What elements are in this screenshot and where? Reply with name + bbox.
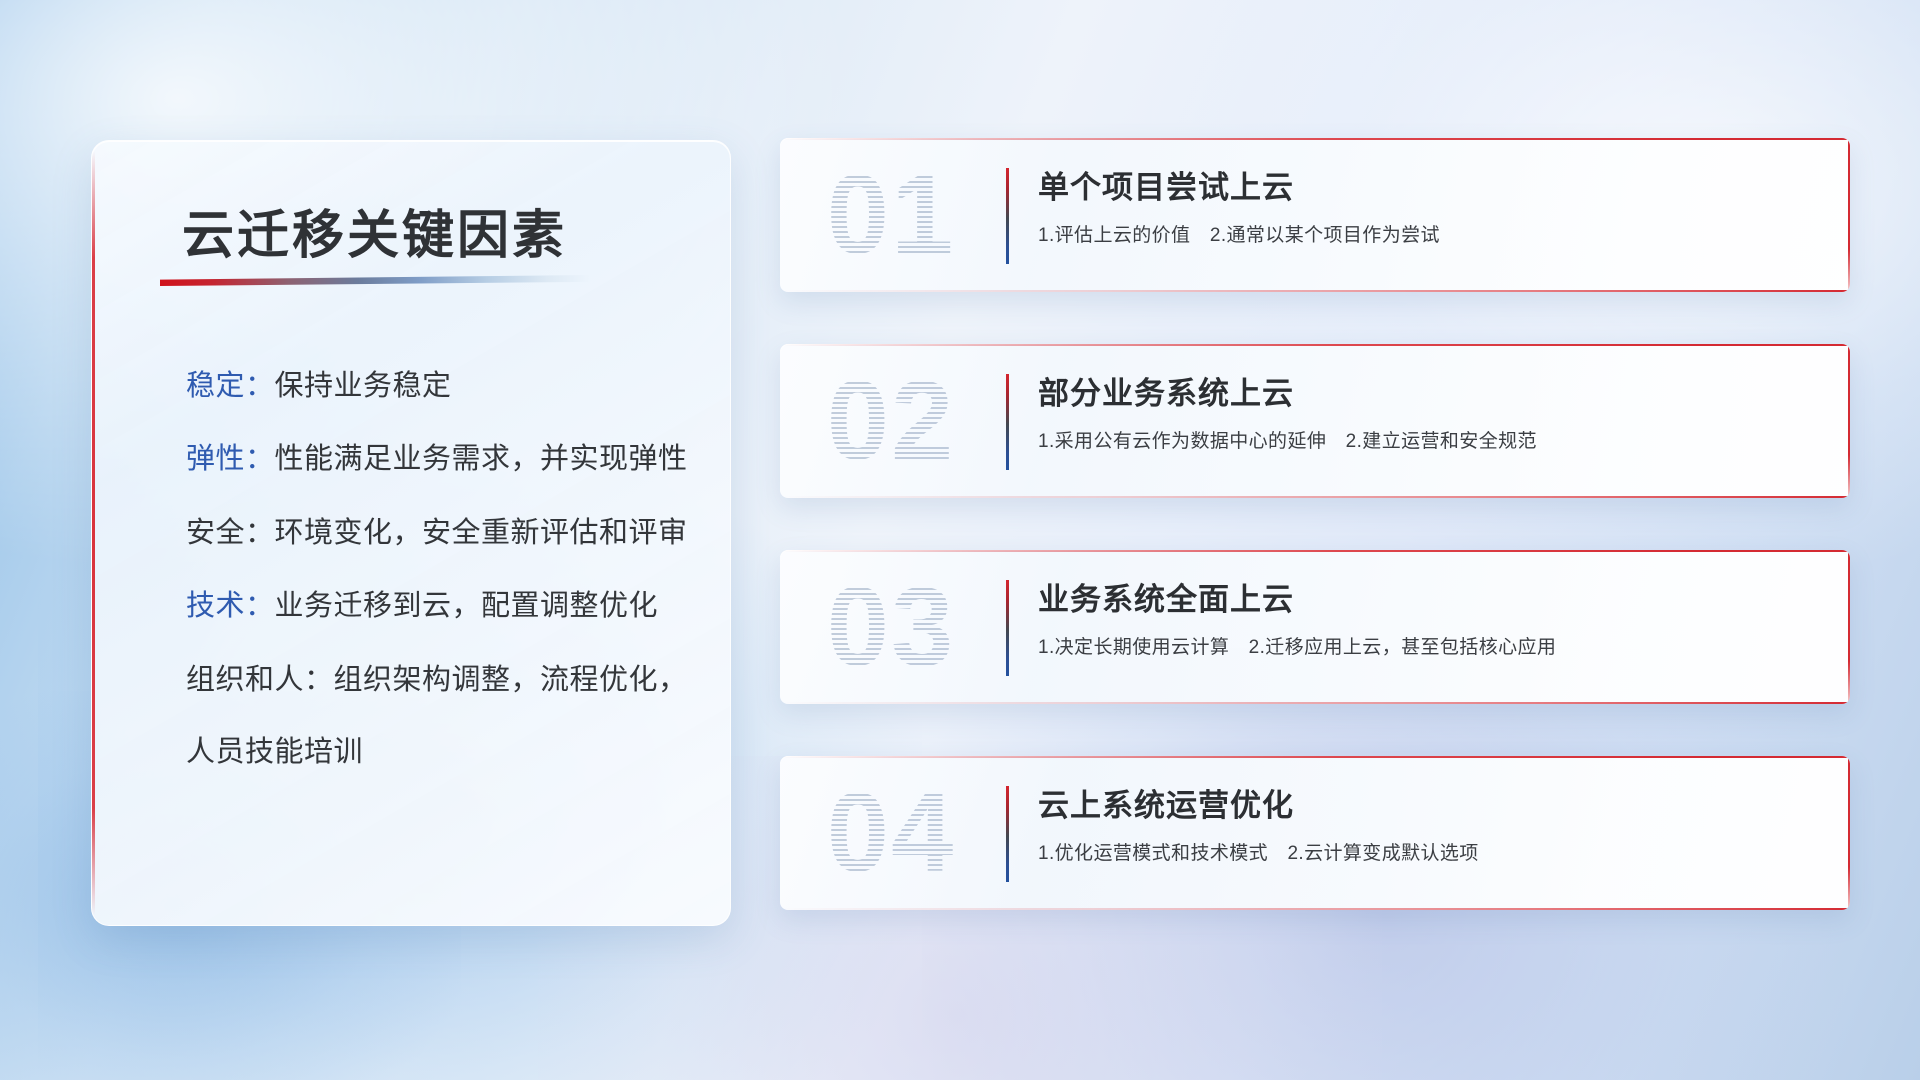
key-factor-label: 组织和人： bbox=[186, 664, 334, 696]
page-title: 云迁移关键因素 bbox=[182, 193, 567, 268]
stage-number-text: 01 bbox=[827, 146, 956, 284]
key-factor-row: 组织和人：组织架构调整，流程优化， bbox=[186, 665, 690, 695]
stage-title: 业务系统全面上云 bbox=[1038, 574, 1294, 619]
stage-subtitle: 1.决定长期使用云计算 2.迁移应用上云，甚至包括核心应用 bbox=[1038, 632, 1556, 659]
card-bottom-accent bbox=[780, 290, 1850, 292]
key-factors-list: 稳定：保持业务稳定弹性：性能满足业务需求，并实现弹性安全：环境变化，安全重新评估… bbox=[186, 371, 690, 811]
key-factor-value: 保持业务稳定 bbox=[275, 370, 452, 402]
key-factor-label: 安全： bbox=[186, 517, 275, 549]
stage-card[interactable]: 01单个项目尝试上云1.评估上云的价值 2.通常以某个项目作为尝试 bbox=[780, 138, 1850, 292]
stage-card[interactable]: 02部分业务系统上云1.采用公有云作为数据中心的延伸 2.建立运营和安全规范 bbox=[780, 344, 1850, 498]
stage-number-watermark: 03 bbox=[806, 558, 976, 696]
key-factor-row: 技术：业务迁移到云，配置调整优化 bbox=[186, 591, 690, 621]
stage-number-watermark: 02 bbox=[806, 352, 976, 490]
card-bottom-accent bbox=[780, 496, 1850, 498]
key-factor-value: 组织架构调整，流程优化， bbox=[334, 664, 688, 696]
card-divider-bar bbox=[1006, 374, 1009, 470]
stage-card[interactable]: 04云上系统运营优化1.优化运营模式和技术模式 2.云计算变成默认选项 bbox=[780, 756, 1850, 910]
stage-subtitle: 1.优化运营模式和技术模式 2.云计算变成默认选项 bbox=[1038, 838, 1479, 865]
key-factor-row: 稳定：保持业务稳定 bbox=[186, 371, 690, 401]
card-top-accent bbox=[780, 756, 1850, 758]
key-factors-panel: 云迁移关键因素 稳定：保持业务稳定弹性：性能满足业务需求，并实现弹性安全：环境变… bbox=[91, 140, 731, 926]
key-factor-value: 人员技能培训 bbox=[186, 736, 363, 768]
card-top-accent bbox=[780, 550, 1850, 552]
stage-title: 部分业务系统上云 bbox=[1038, 368, 1294, 413]
key-factor-value: 环境变化，安全重新评估和评审 bbox=[275, 517, 688, 549]
migration-stages-list: 01单个项目尝试上云1.评估上云的价值 2.通常以某个项目作为尝试02部分业务系… bbox=[780, 138, 1850, 962]
stage-number-text: 03 bbox=[827, 558, 956, 696]
key-factor-value: 业务迁移到云，配置调整优化 bbox=[275, 590, 659, 622]
card-top-accent bbox=[780, 344, 1850, 346]
card-right-accent bbox=[1848, 756, 1850, 910]
card-divider-bar bbox=[1006, 168, 1009, 264]
card-top-accent bbox=[780, 138, 1850, 140]
key-factor-row: 安全：环境变化，安全重新评估和评审 bbox=[186, 518, 690, 548]
stage-subtitle: 1.采用公有云作为数据中心的延伸 2.建立运营和安全规范 bbox=[1038, 426, 1537, 453]
stage-number-watermark: 01 bbox=[806, 146, 976, 284]
stage-title: 单个项目尝试上云 bbox=[1038, 162, 1294, 207]
card-divider-bar bbox=[1006, 786, 1009, 882]
card-divider-bar bbox=[1006, 580, 1009, 676]
card-bottom-accent bbox=[780, 702, 1850, 704]
stage-title: 云上系统运营优化 bbox=[1038, 780, 1294, 825]
key-factor-label: 稳定： bbox=[186, 370, 275, 402]
stage-card[interactable]: 03业务系统全面上云1.决定长期使用云计算 2.迁移应用上云，甚至包括核心应用 bbox=[780, 550, 1850, 704]
key-factor-label: 技术： bbox=[186, 590, 275, 622]
card-right-accent bbox=[1848, 550, 1850, 704]
key-factor-row: 人员技能培训 bbox=[186, 737, 690, 767]
key-factor-row: 弹性：性能满足业务需求，并实现弹性 bbox=[186, 444, 690, 474]
key-factor-label: 弹性： bbox=[186, 443, 275, 475]
card-bottom-accent bbox=[780, 908, 1850, 910]
card-right-accent bbox=[1848, 344, 1850, 498]
card-right-accent bbox=[1848, 138, 1850, 292]
stage-number-text: 02 bbox=[827, 352, 956, 490]
stage-subtitle: 1.评估上云的价值 2.通常以某个项目作为尝试 bbox=[1038, 220, 1440, 247]
title-underline-accent bbox=[160, 275, 590, 286]
stage-number-watermark: 04 bbox=[806, 764, 976, 902]
stage-number-text: 04 bbox=[827, 764, 956, 902]
key-factor-value: 性能满足业务需求，并实现弹性 bbox=[275, 443, 688, 475]
